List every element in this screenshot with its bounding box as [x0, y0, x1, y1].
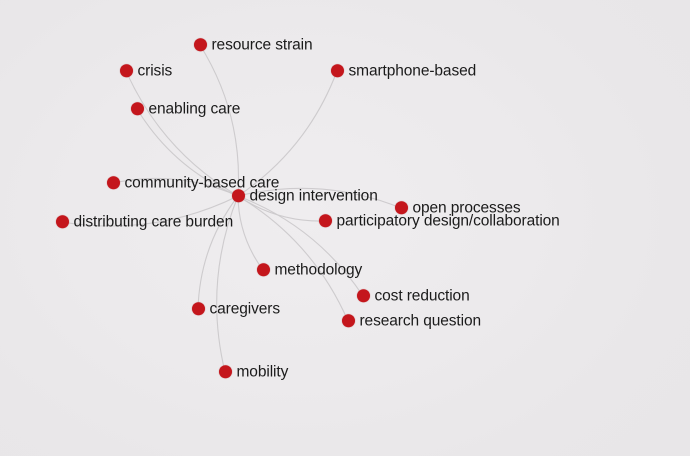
node-dot-icon [319, 215, 332, 228]
graph-node-participatory-design-collaboration[interactable]: participatory design/collaboration [319, 213, 560, 229]
node-dot-icon [107, 177, 120, 190]
network-graph-canvas: resource straincrisissmartphone-basedena… [0, 0, 690, 456]
graph-node-smartphone-based[interactable]: smartphone-based [331, 63, 477, 79]
graph-node-crisis[interactable]: crisis [120, 63, 173, 79]
graph-node-resource-strain[interactable]: resource strain [194, 37, 313, 53]
graph-node-label: design intervention [250, 188, 378, 204]
graph-edge [238, 196, 363, 296]
graph-node-label: distributing care burden [74, 214, 234, 230]
graph-node-label: research question [360, 313, 482, 329]
graph-node-research-question[interactable]: research question [342, 313, 482, 329]
graph-node-distributing-care-burden[interactable]: distributing care burden [56, 214, 234, 230]
node-dot-icon [357, 290, 370, 303]
graph-node-cost-reduction[interactable]: cost reduction [357, 288, 470, 304]
node-dot-icon [120, 65, 133, 78]
graph-node-label: caregivers [210, 301, 281, 317]
graph-node-label: smartphone-based [349, 63, 477, 79]
graph-node-label: enabling care [149, 101, 241, 117]
graph-node-label: resource strain [212, 37, 313, 53]
node-dot-icon [219, 366, 232, 379]
graph-node-design-intervention[interactable]: design intervention [232, 188, 378, 204]
graph-node-label: crisis [138, 63, 173, 79]
node-dot-icon [192, 303, 205, 316]
graph-node-enabling-care[interactable]: enabling care [131, 101, 241, 117]
graph-node-mobility[interactable]: mobility [219, 364, 289, 380]
graph-node-label: mobility [237, 364, 289, 380]
node-dot-icon [342, 315, 355, 328]
node-dot-icon [232, 190, 245, 203]
node-dot-icon [194, 39, 207, 52]
graph-node-label: cost reduction [375, 288, 470, 304]
node-dot-icon [131, 103, 144, 116]
node-dot-icon [331, 65, 344, 78]
graph-node-caregivers[interactable]: caregivers [192, 301, 281, 317]
graph-node-label: participatory design/collaboration [337, 213, 560, 229]
graph-node-label: methodology [275, 262, 363, 278]
node-dot-icon [257, 264, 270, 277]
graph-edge [238, 196, 263, 270]
node-dot-icon [56, 216, 69, 229]
graph-node-methodology[interactable]: methodology [257, 262, 363, 278]
